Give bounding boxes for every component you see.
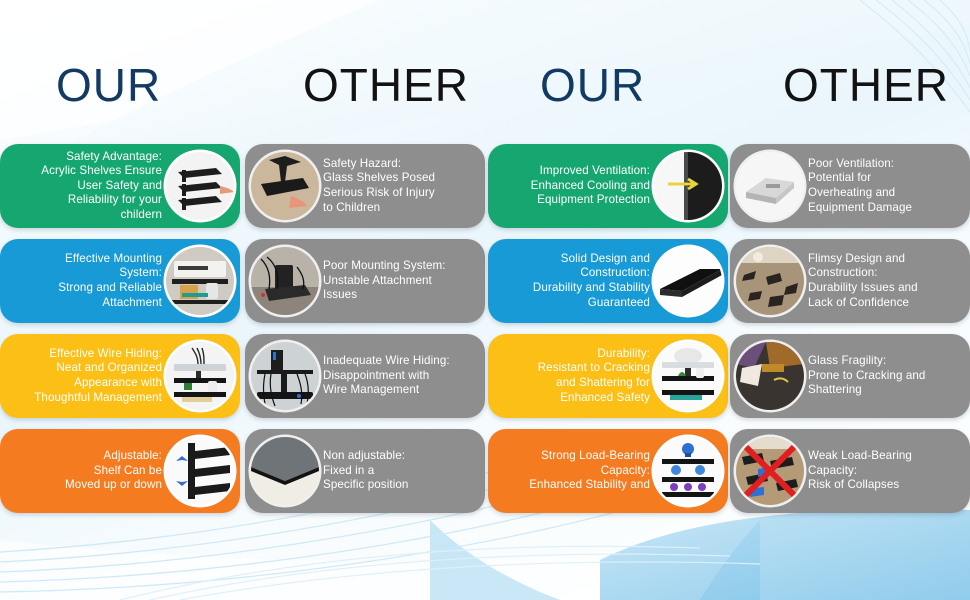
card-text: Glass Fragility: Prone to Cracking and S… bbox=[808, 334, 962, 418]
cracked-glass-shards-photo bbox=[736, 342, 804, 410]
card-non-adjustable[interactable]: Non adjustable: Fixed in a Specific posi… bbox=[245, 429, 485, 513]
solid-black-panel-photo bbox=[654, 247, 722, 315]
card-line: Adjustable: bbox=[104, 449, 162, 464]
card-line: Safety Advantage: bbox=[66, 150, 162, 165]
card-weak-load-bearing[interactable]: Weak Load-Bearing Capacity: Risk of Coll… bbox=[730, 429, 970, 513]
card-text: Flimsy Design and Construction: Durabili… bbox=[808, 239, 962, 323]
card-line: Lack of Confidence bbox=[808, 296, 909, 311]
card-text: Poor Ventilation: Potential for Overheat… bbox=[808, 144, 962, 228]
card-text: Safety Hazard: Glass Shelves Posed Serio… bbox=[323, 144, 477, 228]
card-text: Non adjustable: Fixed in a Specific posi… bbox=[323, 429, 477, 513]
card-line: Issues bbox=[323, 288, 357, 303]
card-line: Enhanced Cooling and bbox=[531, 179, 650, 194]
tidy-wire-shelf-photo bbox=[166, 342, 234, 410]
ventilation-gap-arrow-photo bbox=[654, 152, 722, 220]
card-text: Solid Design and Construction: Durabilit… bbox=[496, 239, 650, 323]
card-line: Shelf Can be bbox=[94, 464, 162, 479]
card-line: Thoughtful Management bbox=[34, 391, 162, 406]
card-line: Capacity: bbox=[601, 464, 650, 479]
card-line: to Children bbox=[323, 201, 380, 216]
card-line: Poor Mounting System: bbox=[323, 259, 446, 274]
card-line: User Safety and bbox=[77, 179, 162, 194]
loose-mount-cables-photo bbox=[251, 247, 319, 315]
card-text: Poor Mounting System: Unstable Attachmen… bbox=[323, 239, 477, 323]
card-line: Equipment Damage bbox=[808, 201, 912, 216]
card-line: Safety Hazard: bbox=[323, 157, 401, 172]
card-poor-ventilation[interactable]: Poor Ventilation: Potential for Overheat… bbox=[730, 144, 970, 228]
card-line: Flimsy Design and bbox=[808, 252, 905, 267]
card-line: Inadequate Wire Hiding: bbox=[323, 354, 450, 369]
card-line: Wire Management bbox=[323, 383, 419, 398]
card-text: Inadequate Wire Hiding: Disappointment w… bbox=[323, 334, 477, 418]
card-line: Serious Risk of Injury bbox=[323, 186, 435, 201]
card-line: Durability and Stability bbox=[533, 281, 650, 296]
card-safety-advantage[interactable]: Safety Advantage: Acrylic Shelves Ensure… bbox=[0, 144, 240, 228]
card-poor-mounting-system[interactable]: Poor Mounting System: Unstable Attachmen… bbox=[245, 239, 485, 323]
card-text: Durability: Resistant to Cracking and Sh… bbox=[496, 334, 650, 418]
card-improved-ventilation[interactable]: Improved Ventilation: Enhanced Cooling a… bbox=[488, 144, 728, 228]
card-line: Effective Mounting bbox=[65, 252, 162, 267]
card-text: Safety Advantage: Acrylic Shelves Ensure… bbox=[8, 144, 162, 228]
card-line: Disappointment with bbox=[323, 369, 429, 384]
card-line: Resistant to Cracking bbox=[538, 361, 650, 376]
card-line: Glass Fragility: bbox=[808, 354, 886, 369]
our-column-left: Safety Advantage: Acrylic Shelves Ensure… bbox=[0, 140, 240, 520]
card-line: System: bbox=[119, 266, 162, 281]
card-line: Neat and Organized bbox=[56, 361, 162, 376]
card-text: Effective Mounting System: Strong and Re… bbox=[8, 239, 162, 323]
card-line: Guaranteed bbox=[588, 296, 650, 311]
dumbbells-on-shelf-photo bbox=[654, 437, 722, 505]
blocked-vent-device-photo bbox=[736, 152, 804, 220]
card-line: Capacity: bbox=[808, 464, 857, 479]
collapsed-shelf-redcross-photo bbox=[736, 437, 804, 505]
other-column-right: Poor Ventilation: Potential for Overheat… bbox=[730, 140, 970, 520]
card-line: Equipment Protection bbox=[537, 193, 650, 208]
card-line: Poor Ventilation: bbox=[808, 157, 894, 172]
card-effective-mounting[interactable]: Effective Mounting System: Strong and Re… bbox=[0, 239, 240, 323]
card-line: Risk of Collapses bbox=[808, 478, 899, 493]
column-headers: OUR OTHER OUR OTHER bbox=[0, 0, 970, 140]
card-strong-load-bearing[interactable]: Strong Load-Bearing Capacity: Enhanced S… bbox=[488, 429, 728, 513]
card-line: Attachment bbox=[102, 296, 162, 311]
shattered-debris-floor-photo bbox=[736, 247, 804, 315]
fixed-shelf-diagram bbox=[251, 437, 319, 505]
card-line: Construction: bbox=[808, 266, 878, 281]
card-inadequate-wire-hiding[interactable]: Inadequate Wire Hiding: Disappointment w… bbox=[245, 334, 485, 418]
card-line: Durability Issues and bbox=[808, 281, 918, 296]
card-solid-design[interactable]: Solid Design and Construction: Durabilit… bbox=[488, 239, 728, 323]
card-text: Strong Load-Bearing Capacity: Enhanced S… bbox=[496, 429, 650, 513]
header-our-left: OUR bbox=[56, 58, 161, 112]
card-line: Fixed in a bbox=[323, 464, 374, 479]
adjustable-bracket-photo bbox=[166, 437, 234, 505]
header-other-right: OTHER bbox=[783, 58, 949, 112]
our-column-right: Improved Ventilation: Enhanced Cooling a… bbox=[488, 140, 728, 520]
card-line: Solid Design and bbox=[561, 252, 650, 267]
card-text: Weak Load-Bearing Capacity: Risk of Coll… bbox=[808, 429, 962, 513]
card-glass-fragility[interactable]: Glass Fragility: Prone to Cracking and S… bbox=[730, 334, 970, 418]
card-line: Weak Load-Bearing bbox=[808, 449, 912, 464]
card-line: Potential for bbox=[808, 171, 871, 186]
card-text: Effective Wire Hiding: Neat and Organize… bbox=[8, 334, 162, 418]
mounted-shelf-printer-photo bbox=[166, 247, 234, 315]
card-line: Enhanced Stability and bbox=[529, 478, 650, 493]
card-line: Moved up or down bbox=[65, 478, 162, 493]
header-our-right: OUR bbox=[540, 58, 645, 112]
card-line: Strong and Reliable bbox=[58, 281, 162, 296]
card-line: Improved Ventilation: bbox=[540, 164, 650, 179]
other-column-left: Safety Hazard: Glass Shelves Posed Serio… bbox=[245, 140, 485, 520]
card-line: Prone to Cracking and bbox=[808, 369, 925, 384]
card-line: Reliability for your bbox=[68, 193, 162, 208]
loaded-shelf-plant-photo bbox=[654, 342, 722, 410]
card-line: Construction: bbox=[580, 266, 650, 281]
card-line: Durability: bbox=[597, 347, 650, 362]
card-line: Specific position bbox=[323, 478, 408, 493]
card-line: Unstable Attachment bbox=[323, 274, 432, 289]
card-durability[interactable]: Durability: Resistant to Cracking and Sh… bbox=[488, 334, 728, 418]
card-flimsy-design[interactable]: Flimsy Design and Construction: Durabili… bbox=[730, 239, 970, 323]
card-line: Strong Load-Bearing bbox=[541, 449, 650, 464]
card-line: Shattering bbox=[808, 383, 862, 398]
card-text: Improved Ventilation: Enhanced Cooling a… bbox=[496, 144, 650, 228]
card-line: Effective Wire Hiding: bbox=[49, 347, 162, 362]
card-line: Glass Shelves Posed bbox=[323, 171, 435, 186]
card-line: childern bbox=[121, 208, 162, 223]
card-line: and Shattering for bbox=[556, 376, 650, 391]
card-text: Adjustable: Shelf Can be Moved up or dow… bbox=[8, 429, 162, 513]
card-line: Overheating and bbox=[808, 186, 895, 201]
card-line: Appearance with bbox=[74, 376, 162, 391]
card-line: Enhanced Safety bbox=[560, 391, 650, 406]
card-line: Acrylic Shelves Ensure bbox=[41, 164, 162, 179]
acrylic-shelves-hand-photo bbox=[166, 152, 234, 220]
comparison-grid: Safety Advantage: Acrylic Shelves Ensure… bbox=[0, 140, 970, 520]
comparison-infographic: OUR OTHER OUR OTHER Safety Advantage: Ac… bbox=[0, 0, 970, 600]
card-adjustable[interactable]: Adjustable: Shelf Can be Moved up or dow… bbox=[0, 429, 240, 513]
card-safety-hazard[interactable]: Safety Hazard: Glass Shelves Posed Serio… bbox=[245, 144, 485, 228]
messy-wires-shelf-photo bbox=[251, 342, 319, 410]
broken-glass-shelf-hand-photo bbox=[251, 152, 319, 220]
header-other-left: OTHER bbox=[303, 58, 469, 112]
card-line: Non adjustable: bbox=[323, 449, 405, 464]
card-effective-wire-hiding[interactable]: Effective Wire Hiding: Neat and Organize… bbox=[0, 334, 240, 418]
